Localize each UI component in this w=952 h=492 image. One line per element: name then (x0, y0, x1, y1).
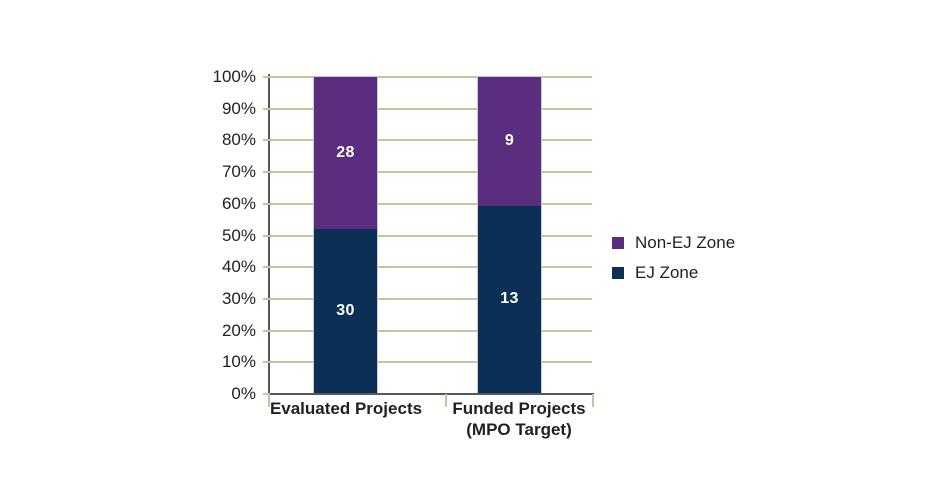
legend-item-ej-zone[interactable]: EJ Zone (612, 258, 735, 288)
y-axis-label-20: 20% (198, 322, 256, 339)
legend-swatch-icon (612, 267, 624, 279)
chart-legend: Non-EJ Zone EJ Zone (612, 228, 735, 288)
x-axis-label-line: Funded Projects (424, 398, 614, 419)
y-axis-label-50: 50% (198, 227, 256, 244)
y-axis-label-30: 30% (198, 290, 256, 307)
x-axis-label-evaluated-projects: Evaluated Projects (251, 398, 441, 419)
legend-label: Non-EJ Zone (635, 233, 735, 253)
y-axis-label-100: 100% (198, 68, 256, 85)
y-tick-60 (263, 203, 270, 205)
chart-container: 28 30 9 13 100% 90% 80% 70% 60% (0, 0, 952, 492)
bar-evaluated-projects[interactable]: 28 30 (313, 76, 378, 393)
bar-value-label: 13 (500, 290, 518, 308)
y-axis-label-10: 10% (198, 353, 256, 370)
y-tick-10 (263, 361, 270, 363)
y-axis-label-60: 60% (198, 195, 256, 212)
bar-segment-non-ej-zone[interactable]: 9 (477, 76, 542, 206)
bar-segment-ej-zone[interactable]: 30 (313, 229, 378, 393)
bar-funded-projects[interactable]: 9 13 (477, 76, 542, 393)
y-tick-90 (263, 108, 270, 110)
y-tick-40 (263, 266, 270, 268)
x-axis-label-funded-projects: Funded Projects (MPO Target) (424, 398, 614, 441)
y-axis-label-40: 40% (198, 258, 256, 275)
x-axis-line (268, 393, 594, 395)
x-axis-label-line: Evaluated Projects (251, 398, 441, 419)
y-tick-80 (263, 139, 270, 141)
y-axis-label-90: 90% (198, 100, 256, 117)
bar-value-label: 30 (336, 302, 354, 320)
y-tick-30 (263, 298, 270, 300)
legend-label: EJ Zone (635, 263, 698, 283)
y-axis-label-0: 0% (198, 385, 256, 402)
bar-value-label: 28 (336, 144, 354, 162)
y-tick-50 (263, 235, 270, 237)
legend-swatch-icon (612, 237, 624, 249)
y-tick-70 (263, 171, 270, 173)
bar-value-label: 9 (505, 132, 514, 150)
bar-segment-ej-zone[interactable]: 13 (477, 206, 542, 393)
y-tick-100 (263, 76, 270, 78)
y-axis-label-80: 80% (198, 131, 256, 148)
y-tick-20 (263, 330, 270, 332)
bar-segment-non-ej-zone[interactable]: 28 (313, 76, 378, 229)
y-axis-label-70: 70% (198, 163, 256, 180)
legend-item-non-ej-zone[interactable]: Non-EJ Zone (612, 228, 735, 258)
x-axis-label-line: (MPO Target) (424, 419, 614, 440)
